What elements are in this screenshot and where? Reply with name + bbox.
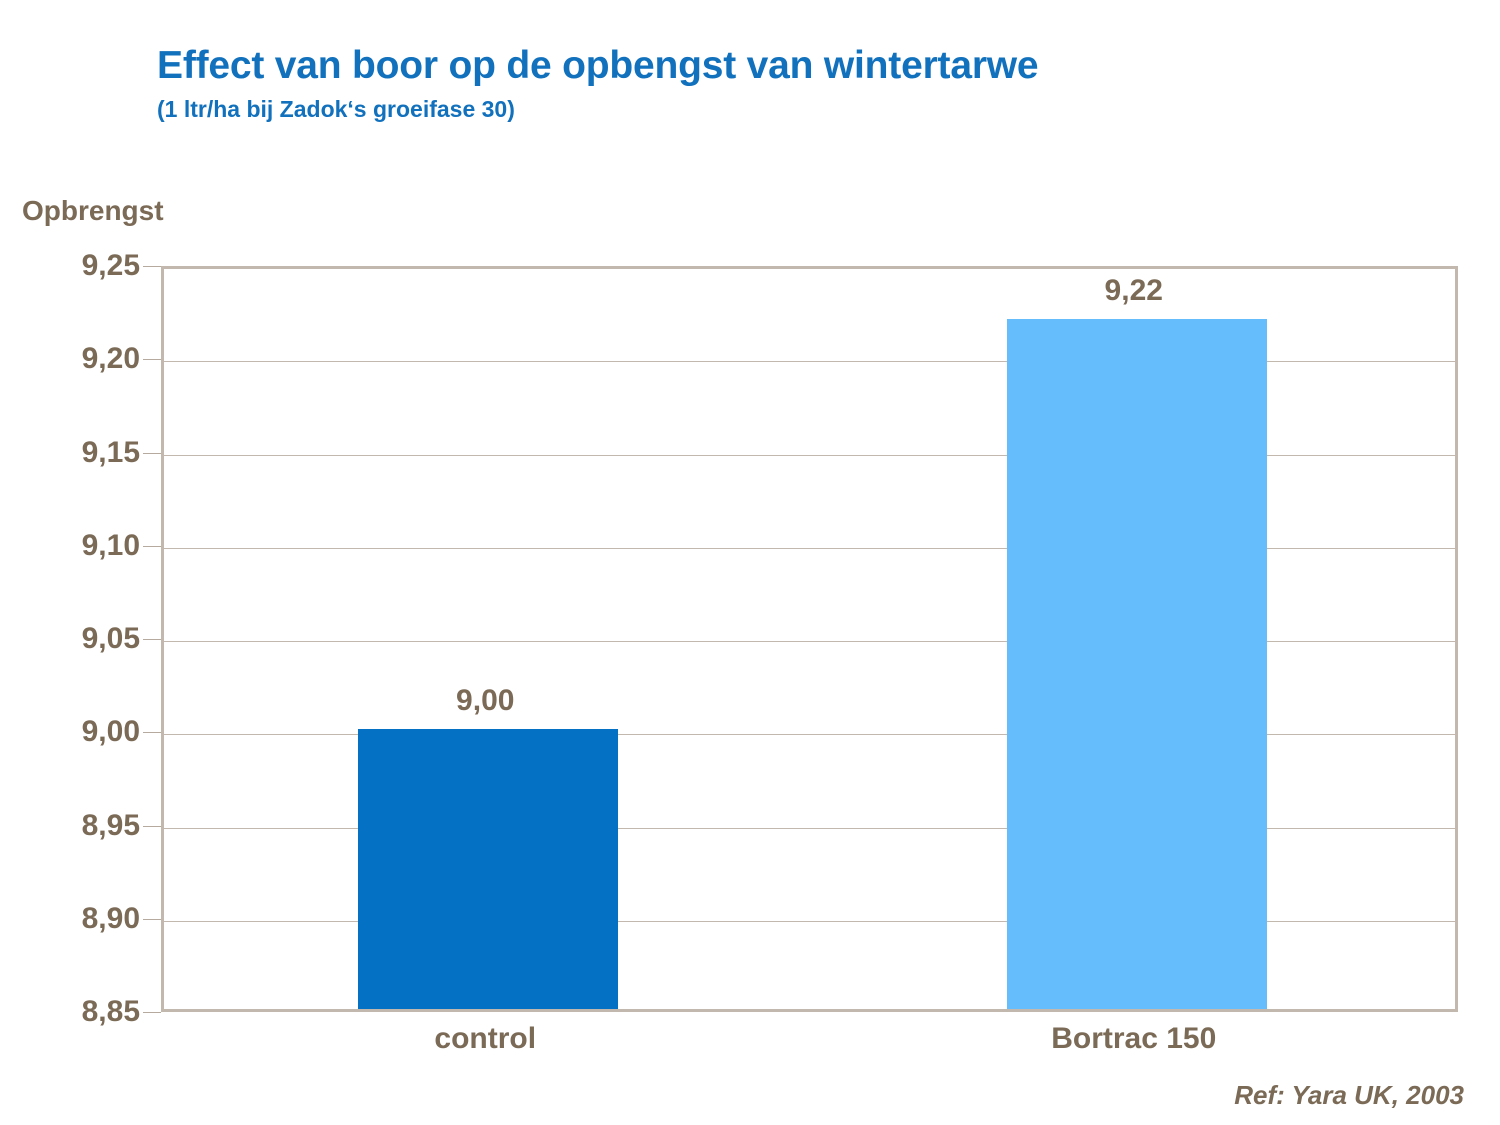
y-axis-tick [143,546,161,547]
y-axis-tick-label: 9,25 [82,249,140,283]
bar-control[interactable] [358,729,618,1009]
x-axis-category-label: control [434,1022,536,1056]
y-axis-tick-label: 8,95 [82,809,140,843]
y-axis-tick-label: 9,15 [82,436,140,470]
x-axis-category-label: Bortrac 150 [1051,1022,1216,1056]
y-axis-tick [143,732,161,733]
y-axis-tick-label: 8,85 [82,995,140,1029]
y-axis-tick [143,1012,161,1013]
y-axis-tick-label: 9,20 [82,342,140,376]
title-block: Effect van boor op de opbengst van winte… [157,45,1407,123]
y-axis-tick-label: 8,90 [82,902,140,936]
y-axis-tick-labels: 9,259,209,159,109,059,008,958,908,85 [30,266,140,1012]
y-axis-tick [143,453,161,454]
reference-note: Ref: Yara UK, 2003 [1234,1080,1464,1111]
y-axis-tick [143,359,161,360]
bar-value-label: 9,00 [456,684,514,718]
y-axis-tick [143,639,161,640]
y-axis-tick [143,826,161,827]
y-axis-tick [143,919,161,920]
y-axis-tick [143,266,161,267]
plot-area [161,266,1458,1012]
y-axis-tick-label: 9,05 [82,622,140,656]
chart-title: Effect van boor op de opbengst van winte… [157,45,1407,87]
plot-inner [164,269,1455,1009]
bar-value-label: 9,22 [1105,274,1163,308]
y-axis-tick-marks [143,266,163,1012]
bar-bortrac-150[interactable] [1007,319,1267,1009]
y-axis-tick-label: 9,10 [82,529,140,563]
y-axis-title: Opbrengst [22,195,164,227]
y-axis-tick-label: 9,00 [82,715,140,749]
chart-subtitle: (1 ltr/ha bij Zadok‘s groeifase 30) [157,96,1407,123]
